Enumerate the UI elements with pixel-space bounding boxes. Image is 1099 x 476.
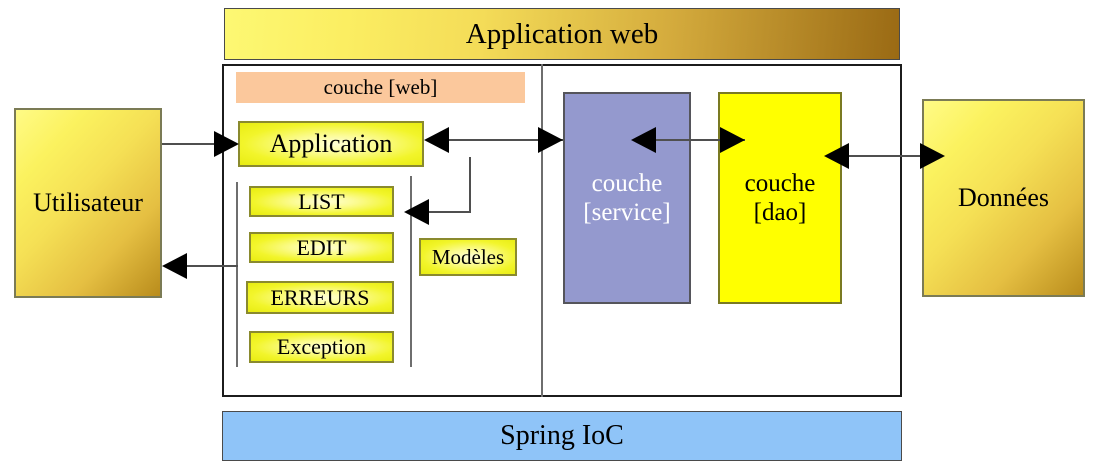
application-web-banner: Application web xyxy=(224,8,900,60)
modeles-box-label: Modèles xyxy=(432,245,504,270)
couche-web-header-label: couche [web] xyxy=(324,75,438,100)
application-box[interactable]: Application xyxy=(238,121,424,167)
arrowhead-into-dao-from-service xyxy=(720,127,745,153)
action-box-list-label: LIST xyxy=(298,189,344,215)
application-web-banner-label: Application web xyxy=(466,18,658,51)
action-box-erreurs[interactable]: ERREURS xyxy=(246,281,394,314)
arrowhead-into-application xyxy=(214,131,239,157)
action-box-erreurs-label: ERREURS xyxy=(270,285,369,311)
arrowhead-into-service-from-dao xyxy=(631,127,656,153)
action-list-rule-left xyxy=(236,182,238,367)
arrowhead-into-utilisateur xyxy=(162,253,187,279)
utilisateur-box[interactable]: Utilisateur xyxy=(14,108,162,298)
layer-divider xyxy=(541,64,543,397)
application-box-label: Application xyxy=(270,129,393,159)
connector-application-to-modeles-horizontal xyxy=(428,211,471,213)
couche-web-header: couche [web] xyxy=(236,72,525,103)
arrowhead-into-modeles-column xyxy=(404,199,429,225)
spring-ioc-banner-label: Spring IoC xyxy=(500,420,624,452)
modeles-box[interactable]: Modèles xyxy=(419,238,517,276)
spring-ioc-banner: Spring IoC xyxy=(222,411,902,461)
couche-dao-line1: couche xyxy=(745,169,816,198)
action-box-exception-label: Exception xyxy=(277,334,366,360)
action-box-list[interactable]: LIST xyxy=(249,186,394,217)
couche-service-line1: couche xyxy=(592,169,663,198)
arrowhead-into-application-from-service xyxy=(424,127,449,153)
donnees-box-label: Données xyxy=(958,183,1049,213)
connector-dao-donnees xyxy=(848,155,928,157)
couche-service-line2: [service] xyxy=(583,198,670,227)
connector-application-to-modeles-vertical xyxy=(469,157,471,213)
action-box-edit[interactable]: EDIT xyxy=(249,232,394,263)
architecture-diagram: Application web couche [web] Application… xyxy=(0,0,1099,476)
utilisateur-box-label: Utilisateur xyxy=(33,188,143,218)
couche-dao-box[interactable]: couche [dao] xyxy=(718,92,842,304)
couche-dao-line2: [dao] xyxy=(754,198,807,227)
connector-web-to-utilisateur xyxy=(186,265,238,267)
arrowhead-into-donnees xyxy=(920,143,945,169)
connector-utilisateur-to-application xyxy=(162,143,220,145)
couche-service-box[interactable]: couche [service] xyxy=(563,92,691,304)
arrowhead-into-service xyxy=(538,127,563,153)
action-box-edit-label: EDIT xyxy=(296,235,346,261)
arrowhead-into-dao-from-donnees xyxy=(824,143,849,169)
action-box-exception[interactable]: Exception xyxy=(249,331,394,363)
donnees-box[interactable]: Données xyxy=(922,99,1085,297)
